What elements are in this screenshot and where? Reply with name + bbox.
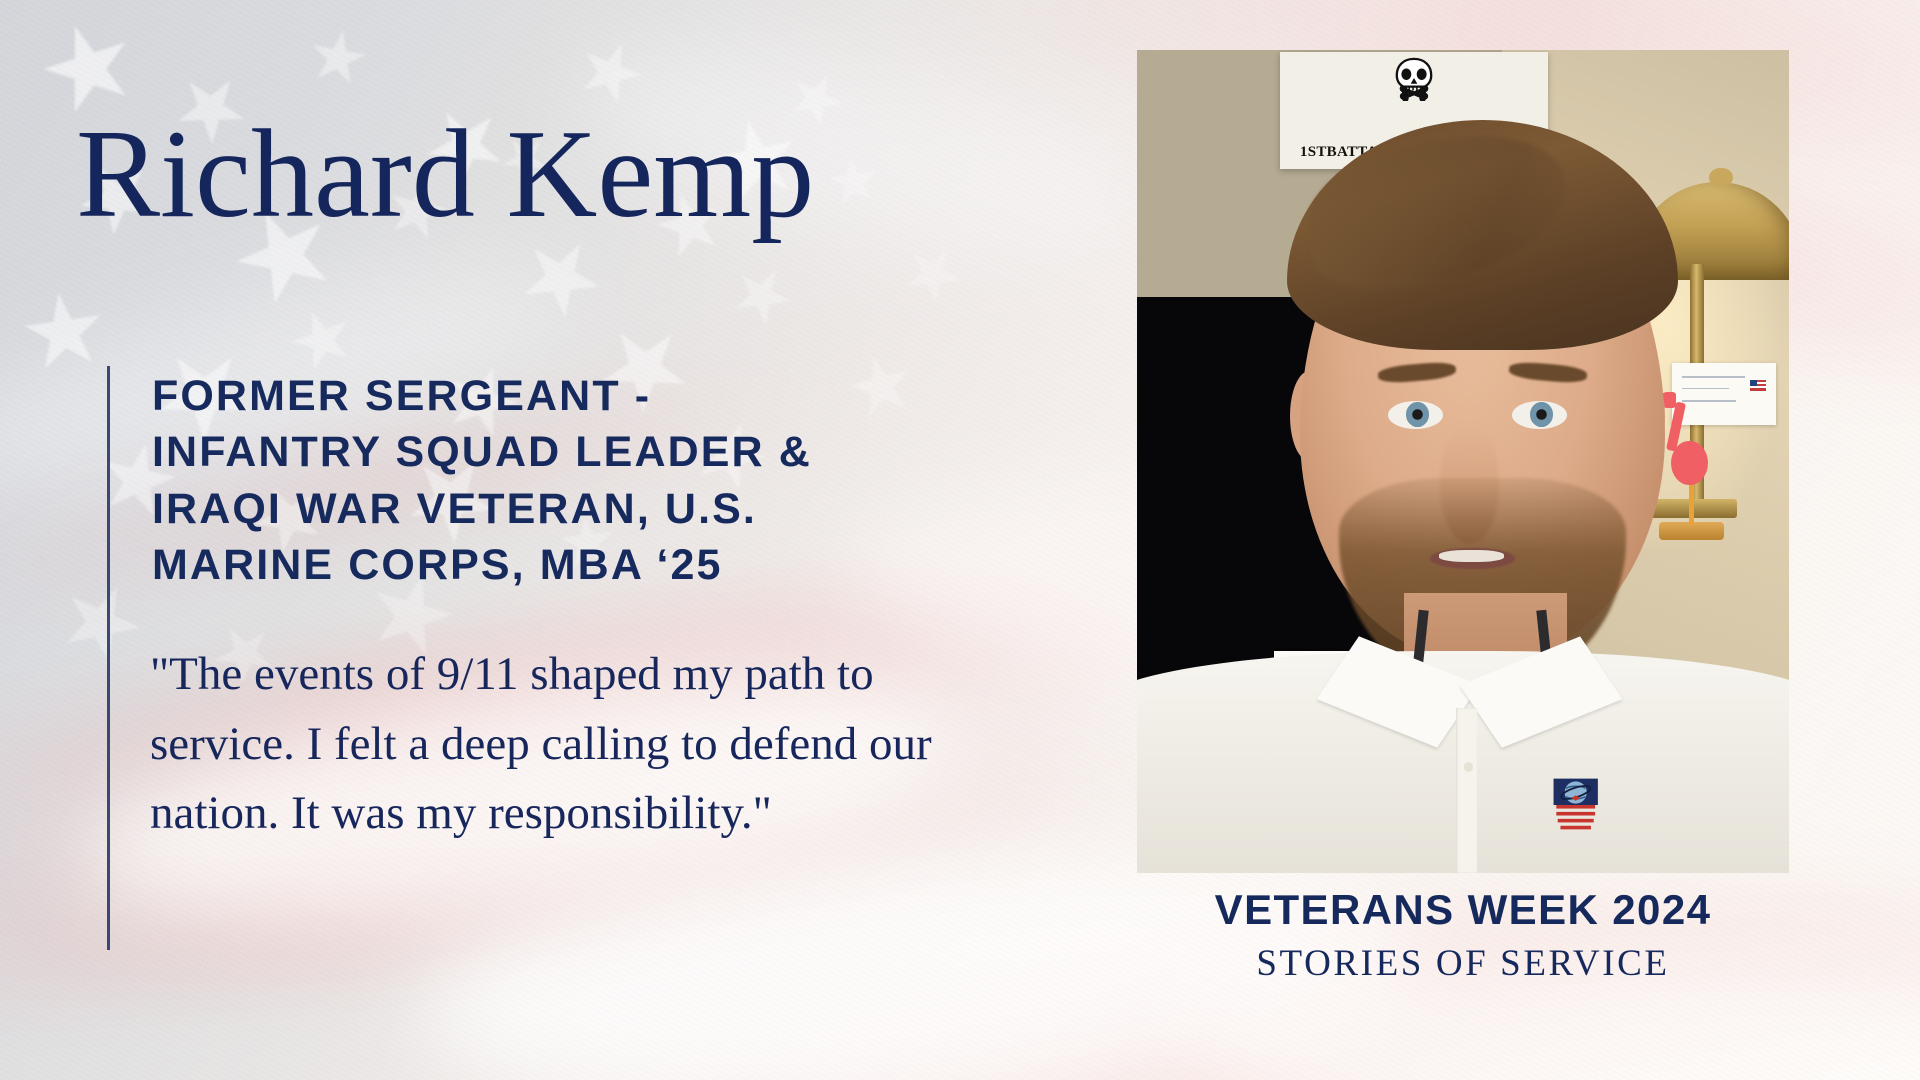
photo-caption: VETERANS WEEK 2024 STORIES OF SERVICE bbox=[1137, 886, 1789, 985]
eye-right bbox=[1512, 401, 1567, 429]
flamingo-leg bbox=[1689, 483, 1694, 526]
subject-photo: 1STBATTALION 7TH MARINES bbox=[1137, 50, 1789, 873]
subject-quote: "The events of 9/11 shaped my path to se… bbox=[150, 640, 990, 849]
shirt-placket bbox=[1456, 708, 1477, 873]
veterans-week-poster: ★★★★★★★★★★★★★★★★★★★★★★★★★★★★★★ Richard K… bbox=[0, 0, 1920, 1080]
caption-primary: VETERANS WEEK 2024 bbox=[1137, 886, 1789, 934]
eye-left bbox=[1388, 401, 1443, 429]
small-flag-icon bbox=[1750, 380, 1766, 391]
subject-credentials: FORMER SERGEANT - INFANTRY SQUAD LEADER … bbox=[152, 368, 912, 593]
credential-line: INFANTRY SQUAD LEADER & bbox=[152, 424, 912, 480]
caption-secondary: STORIES OF SERVICE bbox=[1137, 942, 1789, 985]
flamingo-figurine bbox=[1671, 441, 1708, 485]
credential-line: FORMER SERGEANT - bbox=[152, 368, 912, 424]
credential-line: IRAQI WAR VETERAN, U.S. bbox=[152, 481, 912, 537]
vertical-divider bbox=[107, 366, 110, 950]
shirt-button bbox=[1464, 762, 1474, 772]
credential-line: MARINE CORPS, MBA ‘25 bbox=[152, 537, 912, 593]
chest-patch-icon bbox=[1548, 770, 1603, 840]
teeth bbox=[1439, 550, 1504, 562]
note-card bbox=[1672, 363, 1776, 426]
skull-and-crossbones-icon bbox=[1391, 57, 1437, 101]
page-title: Richard Kemp bbox=[76, 108, 814, 242]
unit-primary: 1ST bbox=[1300, 144, 1327, 160]
